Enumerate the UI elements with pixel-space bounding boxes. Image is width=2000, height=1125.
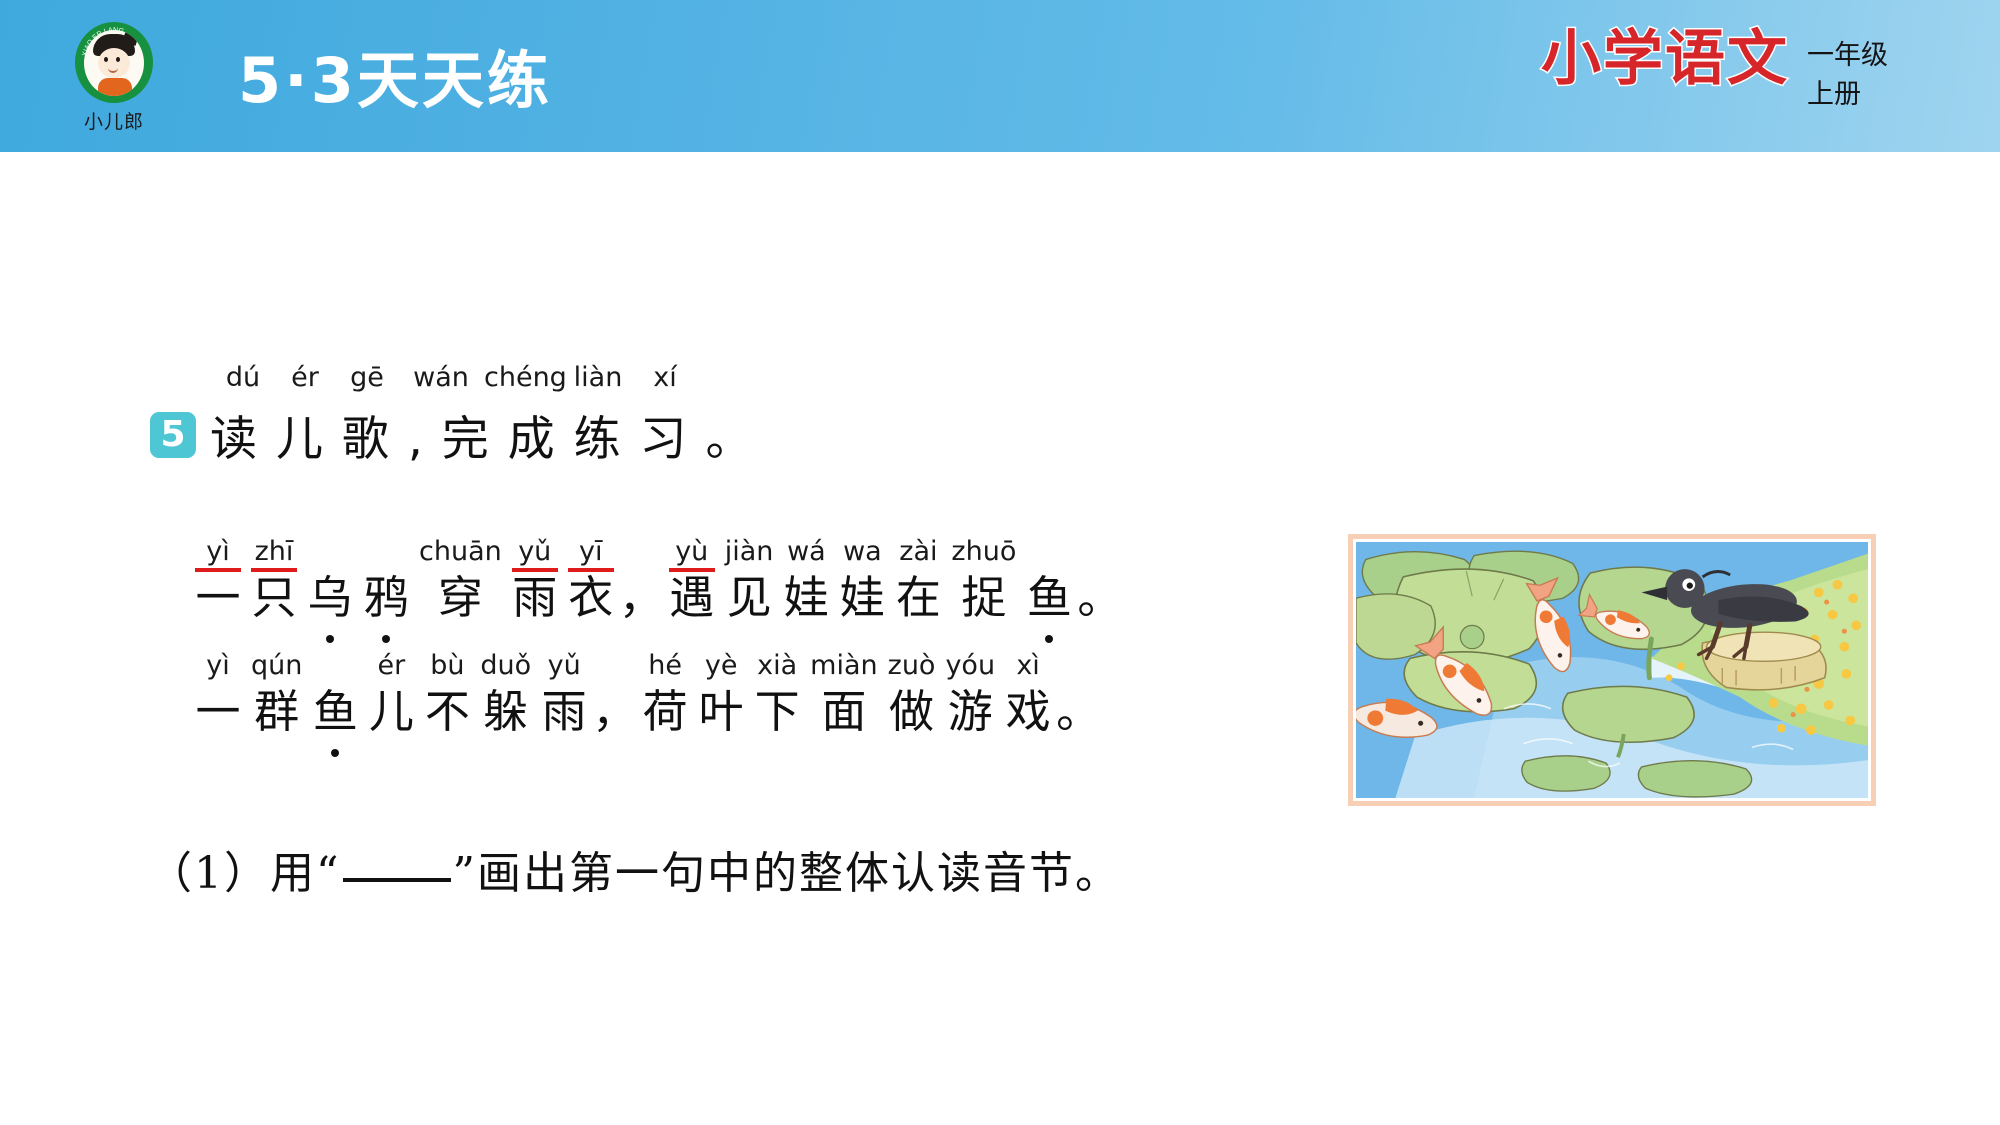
pond-illustration bbox=[1356, 542, 1868, 798]
poem-syllable: 乌 bbox=[302, 535, 358, 627]
subquestion-suffix: ”画出第一句中的整体认读音节。 bbox=[453, 837, 1122, 901]
subject-block: 小学语文 一年级 上册 bbox=[1541, 26, 1888, 114]
poem-syllable: ér儿 bbox=[363, 649, 419, 741]
syllable-pinyin: wa bbox=[843, 535, 882, 569]
syllable-pinyin: yè bbox=[705, 649, 738, 683]
poem-syllable: yǔ雨 bbox=[536, 649, 592, 741]
stem-pinyin-syllable: xí bbox=[634, 362, 696, 393]
stem-pinyin-syllable: ér bbox=[274, 362, 336, 393]
syllable-pinyin: yǔ bbox=[548, 649, 581, 683]
syllable-pinyin: duǒ bbox=[480, 649, 531, 683]
syllable-pinyin: qún bbox=[251, 649, 302, 683]
poem-syllable: wá娃 bbox=[778, 535, 834, 627]
question-stem: dúérgēwánchéngliànxí 5 读 儿 歌 , 完 成 练 习 。 bbox=[150, 362, 1050, 469]
syllable-hanzi: 捉 bbox=[961, 569, 1006, 627]
syllable-hanzi: 遇 bbox=[669, 569, 714, 627]
syllable-pinyin: ér bbox=[378, 649, 406, 683]
syllable-pinyin: hé bbox=[648, 649, 682, 683]
syllable-pinyin: yī bbox=[579, 535, 602, 569]
syllable-pinyin: yì bbox=[206, 535, 229, 569]
poem-line-2: yì一qún群鱼ér儿bù不duǒ躲yǔ雨，hé荷yè叶xià下miàn面zuò… bbox=[190, 649, 1250, 741]
syllable-hanzi: 雨 bbox=[512, 569, 557, 627]
stem-pinyin-row: dúérgēwánchéngliànxí bbox=[212, 362, 1050, 398]
syllable-hanzi: 一 bbox=[195, 569, 240, 627]
poem-syllable: zài在 bbox=[890, 535, 946, 627]
grade-volume: 上册 bbox=[1807, 75, 1888, 114]
poem-syllable: xià下 bbox=[749, 649, 805, 741]
syllable-hanzi: 戏 bbox=[1006, 683, 1051, 741]
syllable-hanzi: 乌 bbox=[307, 569, 352, 627]
syllable-hanzi: 鱼 bbox=[313, 683, 358, 741]
stem-line: 5 读 儿 歌 , 完 成 练 习 。 bbox=[150, 400, 1050, 469]
logo-eye-right bbox=[116, 57, 120, 62]
subquestion-prefix: （1）用“ bbox=[148, 837, 341, 901]
poem-syllable: yóu游 bbox=[940, 649, 1000, 741]
subject-title: 小学语文 bbox=[1541, 26, 1789, 92]
syllable-hanzi: 娃 bbox=[840, 569, 885, 627]
syllable-hanzi: 儿 bbox=[369, 683, 414, 741]
poem-syllable: xì戏 bbox=[1000, 649, 1056, 741]
syllable-pinyin: jiàn bbox=[725, 535, 774, 569]
poem-syllable: qún群 bbox=[246, 649, 307, 741]
poem-syllable: hé荷 bbox=[637, 649, 693, 741]
grade-block: 一年级 上册 bbox=[1807, 36, 1888, 114]
syllable-hanzi: 游 bbox=[948, 683, 993, 741]
poem-line-1-content: yì一zhī只乌鸦chuān穿yǔ雨yī衣，yù遇jiàn见wá娃wa娃zài在… bbox=[190, 535, 1250, 627]
syllable-hanzi: 躲 bbox=[483, 683, 528, 741]
poem-syllable: yè叶 bbox=[693, 649, 749, 741]
publisher-logo: XIAO ER LANG 小儿郎 bbox=[62, 22, 166, 134]
syllable-pinyin: yì bbox=[206, 649, 229, 683]
stem-pinyin-syllable: chéng bbox=[484, 362, 562, 393]
worksheet-page: dúérgēwánchéngliànxí 5 读 儿 歌 , 完 成 练 习 。… bbox=[0, 152, 2000, 1125]
poem-syllable: chuān穿 bbox=[414, 535, 507, 627]
syllable-pinyin: chuān bbox=[419, 535, 502, 569]
stem-pinyin-syllable: wán bbox=[398, 362, 484, 393]
syllable-hanzi: 荷 bbox=[643, 683, 688, 741]
grade-level: 一年级 bbox=[1807, 36, 1888, 75]
poem-syllable: yì一 bbox=[190, 535, 246, 627]
syllable-hanzi: 鱼 bbox=[1027, 569, 1072, 627]
poem-line-1: yì一zhī只乌鸦chuān穿yǔ雨yī衣，yù遇jiàn见wá娃wa娃zài在… bbox=[190, 535, 1250, 627]
logo-body bbox=[98, 78, 132, 96]
poem-syllable: miàn面 bbox=[805, 649, 882, 741]
syllable-hanzi: 见 bbox=[727, 569, 772, 627]
poem-syllable: jiàn见 bbox=[720, 535, 779, 627]
poem-punctuation: ， bbox=[592, 683, 637, 741]
subquestion-1: （1）用“ ”画出第一句中的整体认读音节。 bbox=[148, 837, 1121, 901]
poem-syllable: yù遇 bbox=[664, 535, 720, 627]
stem-text: 读 儿 歌 , 完 成 练 习 。 bbox=[210, 400, 754, 469]
poem-syllable: zuò做 bbox=[883, 649, 941, 741]
syllable-hanzi: 鸦 bbox=[363, 569, 408, 627]
poem-syllable: yì一 bbox=[190, 649, 246, 741]
poem-syllable: yī衣 bbox=[563, 535, 619, 627]
poem-syllable: duǒ躲 bbox=[475, 649, 536, 741]
logo-face bbox=[98, 48, 130, 78]
syllable-hanzi: 做 bbox=[889, 683, 934, 741]
syllable-pinyin: zài bbox=[899, 535, 937, 569]
poem-syllable: yǔ雨 bbox=[507, 535, 563, 627]
illustration-frame bbox=[1348, 534, 1876, 806]
stem-pinyin-syllable: liàn bbox=[562, 362, 634, 393]
syllable-hanzi: 面 bbox=[821, 683, 866, 741]
syllable-pinyin: xià bbox=[757, 649, 797, 683]
syllable-hanzi: 穿 bbox=[438, 569, 483, 627]
logo-caption: 小儿郎 bbox=[84, 107, 144, 134]
poem-block: yì一zhī只乌鸦chuān穿yǔ雨yī衣，yù遇jiàn见wá娃wa娃zài在… bbox=[190, 535, 1250, 763]
syllable-pinyin: yù bbox=[675, 535, 708, 569]
question-number-badge: 5 bbox=[150, 412, 196, 458]
syllable-pinyin: bù bbox=[430, 649, 464, 683]
poem-punctuation: ， bbox=[619, 569, 664, 627]
syllable-pinyin: yǔ bbox=[518, 535, 551, 569]
syllable-pinyin: xì bbox=[1016, 649, 1039, 683]
syllable-hanzi: 叶 bbox=[699, 683, 744, 741]
page-header: XIAO ER LANG 小儿郎 5·3天天练 小学语文 一年级 上册 bbox=[0, 0, 2000, 152]
syllable-pinyin: wá bbox=[787, 535, 826, 569]
syllable-hanzi: 雨 bbox=[542, 683, 587, 741]
syllable-pinyin: zuò bbox=[888, 649, 936, 683]
poem-syllable: zhī只 bbox=[246, 535, 302, 627]
poem-syllable: 鱼 bbox=[307, 649, 363, 741]
syllable-hanzi: 群 bbox=[254, 683, 299, 741]
syllable-hanzi: 只 bbox=[251, 569, 296, 627]
boy-logo-icon: XIAO ER LANG bbox=[75, 22, 153, 103]
poem-syllable: 鱼 bbox=[1021, 535, 1077, 627]
syllable-hanzi: 下 bbox=[755, 683, 800, 741]
syllable-hanzi: 在 bbox=[896, 569, 941, 627]
syllable-hanzi: 一 bbox=[195, 683, 240, 741]
syllable-pinyin: yóu bbox=[945, 649, 995, 683]
stem-pinyin-syllable: gē bbox=[336, 362, 398, 393]
poem-syllable: 鸦 bbox=[358, 535, 414, 627]
syllable-hanzi: 娃 bbox=[784, 569, 829, 627]
pond-scene-icon bbox=[1356, 542, 1868, 798]
syllable-pinyin: zhuō bbox=[951, 535, 1016, 569]
poem-syllable: zhuō捉 bbox=[946, 535, 1021, 627]
syllable-hanzi: 不 bbox=[425, 683, 470, 741]
stem-pinyin-syllable: dú bbox=[212, 362, 274, 393]
logo-eye-left bbox=[104, 57, 108, 62]
syllable-pinyin: miàn bbox=[810, 649, 877, 683]
answer-blank[interactable] bbox=[343, 878, 451, 882]
brand-title: 5·3天天练 bbox=[238, 30, 552, 120]
poem-syllable: bù不 bbox=[419, 649, 475, 741]
poem-line-2-content: yì一qún群鱼ér儿bù不duǒ躲yǔ雨，hé荷yè叶xià下miàn面zuò… bbox=[190, 649, 1250, 741]
syllable-pinyin: zhī bbox=[255, 535, 294, 569]
poem-punctuation: 。 bbox=[1056, 683, 1101, 741]
syllable-hanzi: 衣 bbox=[568, 569, 613, 627]
poem-punctuation: 。 bbox=[1077, 569, 1122, 627]
poem-syllable: wa娃 bbox=[834, 535, 890, 627]
